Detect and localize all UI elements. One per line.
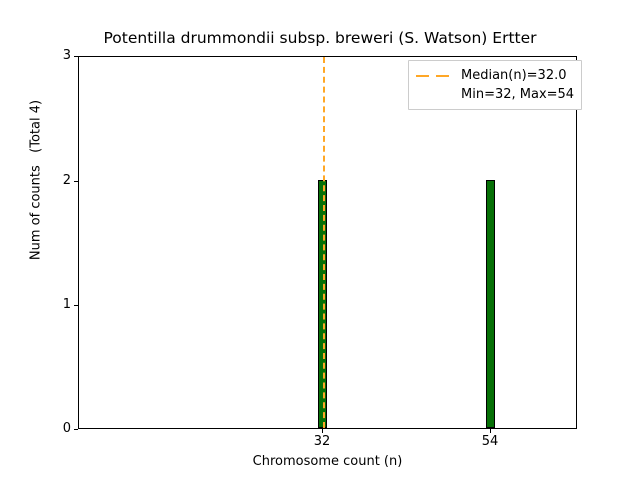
plot-axes bbox=[78, 56, 577, 429]
chart-title: Potentilla drummondii subsp. breweri (S.… bbox=[0, 29, 640, 47]
xtick-label-32: 32 bbox=[292, 434, 352, 449]
dashed-line-icon bbox=[416, 70, 452, 82]
y-axis-label: Num of counts (Total 4) bbox=[29, 100, 45, 260]
ytick-mark-2 bbox=[74, 181, 78, 182]
ytick-mark-0 bbox=[74, 429, 78, 430]
legend-label-median: Median(n)=32.0 bbox=[461, 68, 567, 83]
chart-legend: Median(n)=32.0 Min=32, Max=54 bbox=[408, 60, 582, 110]
xtick-mark-32 bbox=[322, 429, 323, 433]
legend-entry-median: Median(n)=32.0 bbox=[416, 66, 574, 85]
legend-entry-minmax: Min=32, Max=54 bbox=[416, 85, 574, 104]
bar-54 bbox=[486, 180, 495, 428]
ytick-label-0: 0 bbox=[31, 421, 71, 436]
xtick-label-54: 54 bbox=[460, 434, 520, 449]
ytick-mark-3 bbox=[74, 56, 78, 57]
y-axis-label-wrapper: Num of counts (Total 4) bbox=[29, 0, 45, 367]
legend-label-minmax: Min=32, Max=54 bbox=[461, 87, 574, 102]
median-line bbox=[323, 57, 325, 428]
plot-area bbox=[79, 57, 576, 428]
x-axis-label: Chromosome count (n) bbox=[78, 454, 577, 469]
ytick-mark-1 bbox=[74, 305, 78, 306]
chart-figure: Potentilla drummondii subsp. breweri (S.… bbox=[0, 0, 640, 480]
legend-handle-placeholder bbox=[416, 89, 452, 101]
xtick-mark-54 bbox=[490, 429, 491, 433]
